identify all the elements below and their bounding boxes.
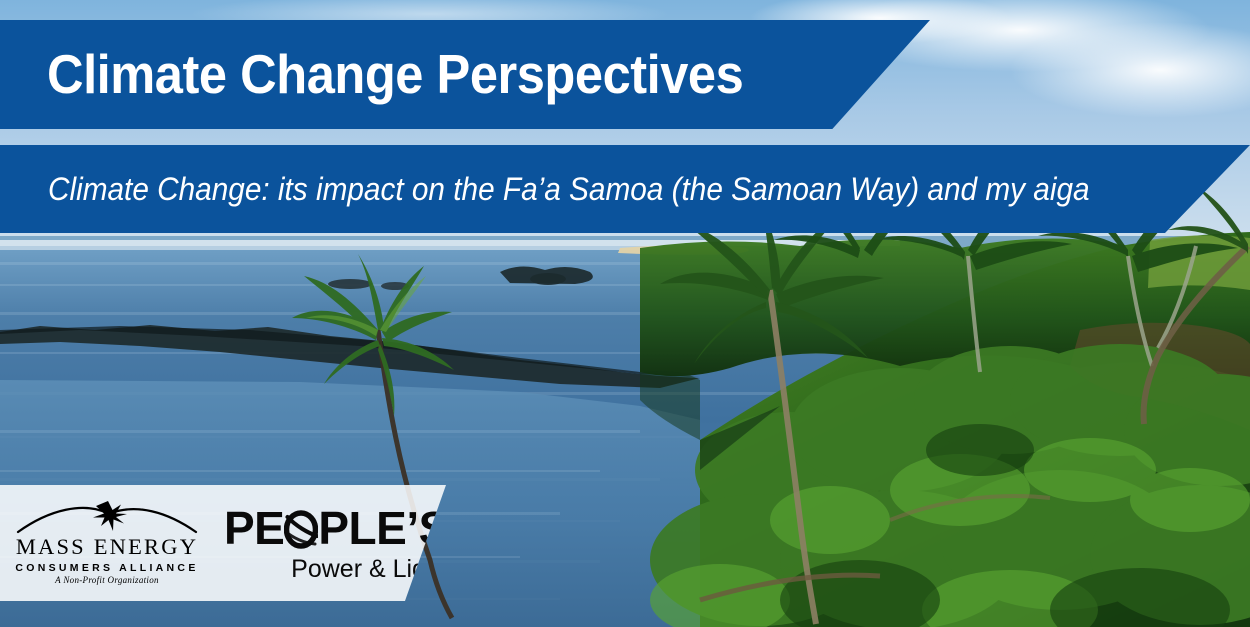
peoples-wordmark: PE PLE’S	[224, 505, 449, 551]
logo-mass-energy: MASS ENERGY CONSUMERS ALLIANCE A Non-Pro…	[14, 501, 200, 585]
title-banner: Climate Change Perspectives	[0, 20, 930, 129]
logo-plaque: MASS ENERGY CONSUMERS ALLIANCE A Non-Pro…	[0, 485, 446, 601]
swoosh-o-icon	[284, 505, 318, 551]
starburst-arc-icon	[14, 501, 200, 535]
subtitle-banner: Climate Change: its impact on the Fa’a S…	[0, 145, 1250, 233]
mass-energy-name: MASS ENERGY	[14, 536, 200, 559]
mass-energy-tagline-primary: CONSUMERS ALLIANCE	[14, 563, 200, 574]
logo-peoples-power-and-light: PE PLE’S Power & Light	[224, 505, 449, 582]
page-subtitle: Climate Change: its impact on the Fa’a S…	[48, 173, 1090, 205]
page-title: Climate Change Perspectives	[47, 47, 743, 102]
peoples-wordmark-start: PE	[224, 505, 284, 551]
climate-change-perspectives-banner: Climate Change Perspectives Climate Chan…	[0, 0, 1250, 627]
mass-energy-tagline-secondary: A Non-Profit Organization	[14, 576, 200, 585]
logo-row: MASS ENERGY CONSUMERS ALLIANCE A Non-Pro…	[0, 501, 446, 585]
